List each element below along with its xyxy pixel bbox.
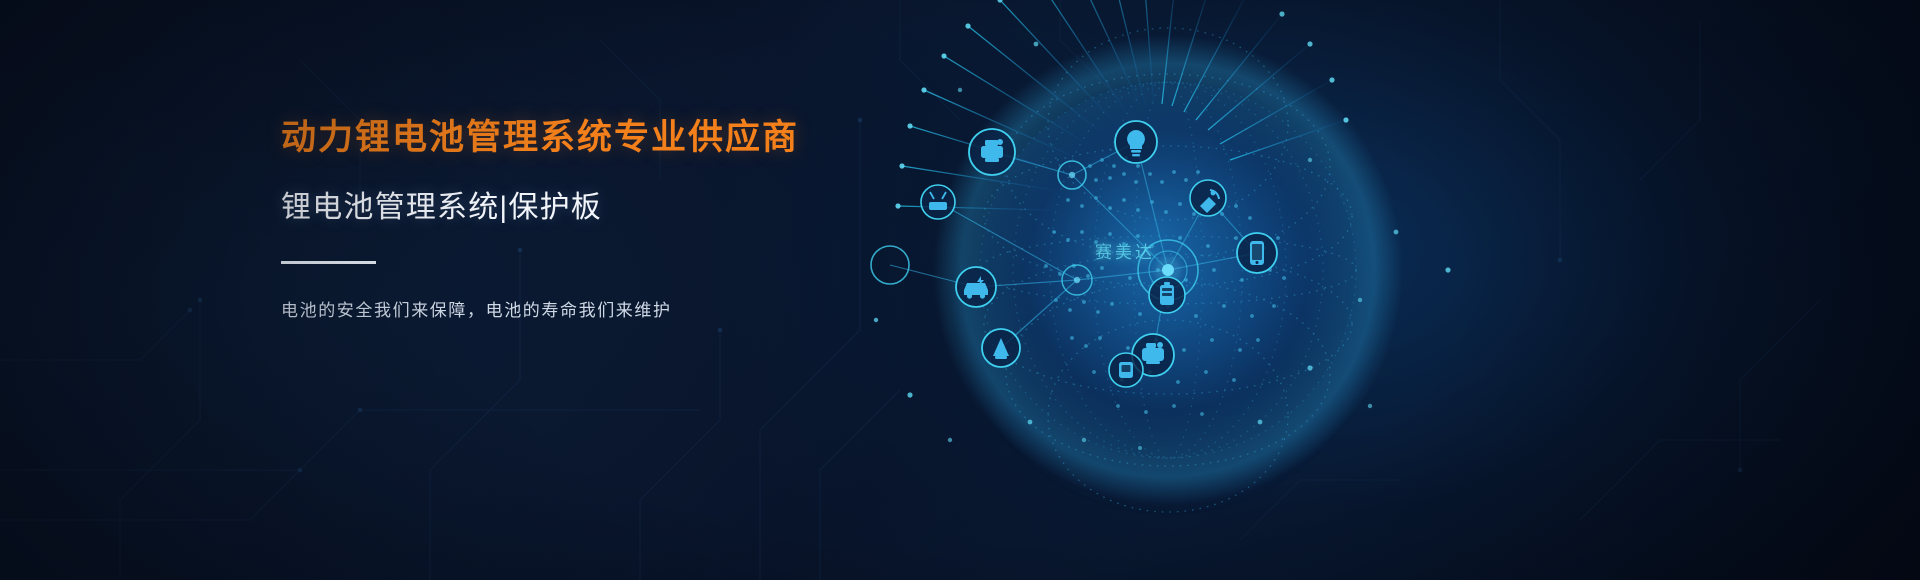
node-icon-smartphone: [1237, 233, 1277, 273]
node-icon-printer: [969, 129, 1015, 175]
node-icon-lightbulb: [1115, 121, 1157, 163]
iot-network-globe: 赛美达: [840, 0, 1500, 580]
node-icon-satellite: [1190, 180, 1226, 216]
node-icon-battery: [1149, 277, 1185, 313]
globe-brand-text: 赛美达: [1095, 238, 1155, 263]
banner-headline: 动力锂电池管理系统专业供应商: [281, 118, 881, 158]
headline-divider: [281, 261, 376, 264]
banner-subheadline: 锂电池管理系统|保护板: [281, 182, 881, 226]
hero-banner: 赛美达 动力锂电池管理系统专业供应商 锂电池管理系统|保护板 电池的安全我们来保…: [0, 0, 1920, 580]
node-icon-device: [1109, 353, 1143, 387]
node-icon-sensor: [982, 329, 1020, 367]
globe-svg: [840, 0, 1500, 580]
banner-copy: 动力锂电池管理系统专业供应商 锂电池管理系统|保护板 电池的安全我们来保障，电池…: [281, 118, 881, 321]
banner-tagline: 电池的安全我们来保障，电池的寿命我们来维护: [281, 296, 881, 321]
node-icon-router: [921, 185, 955, 219]
node-icon-car: [956, 267, 996, 307]
